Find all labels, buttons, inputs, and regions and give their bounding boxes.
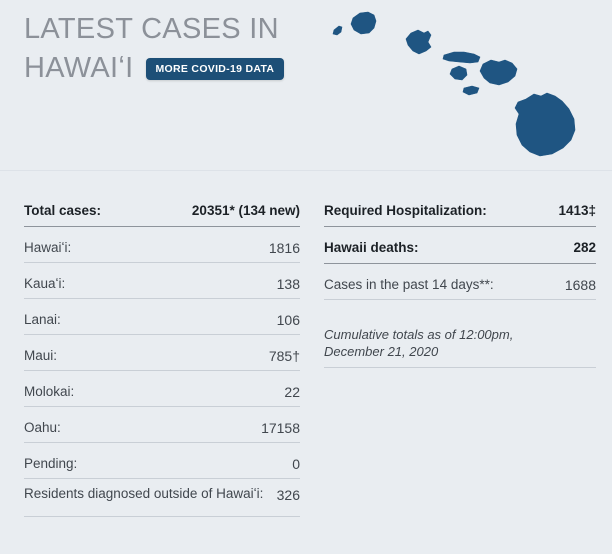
- summary-stats-table: Required Hospitalization: 1413‡ Hawaii d…: [306, 190, 612, 517]
- row-value: 0: [292, 455, 300, 473]
- cases-by-island-table: Total cases: 20351* (134 new) Hawaiʻi: 1…: [0, 190, 306, 517]
- page-header: LATEST CASES IN HAWAIʻI MORE COVID-19 DA…: [0, 0, 612, 170]
- cumulative-totals-note: Cumulative totals as of 12:00pm, Decembe…: [324, 300, 596, 368]
- row-value: 326: [277, 485, 300, 504]
- table-row: Kauaʻi: 138: [24, 263, 300, 299]
- row-value: 785†: [269, 347, 300, 365]
- row-label: Hawaii deaths:: [324, 239, 419, 257]
- header-divider: [0, 170, 612, 171]
- statistics-tables: Total cases: 20351* (134 new) Hawaiʻi: 1…: [0, 190, 612, 517]
- page-title-second-line: HAWAIʻI: [24, 49, 134, 88]
- table-row: Molokai: 22: [24, 371, 300, 407]
- row-label: Pending:: [24, 455, 77, 473]
- island-lanai: [450, 66, 467, 80]
- row-value: 106: [277, 311, 300, 329]
- row-label: Kauaʻi:: [24, 275, 65, 293]
- row-value: 22: [284, 383, 300, 401]
- island-hawaii: [515, 93, 575, 156]
- row-label: Hawaiʻi:: [24, 239, 71, 257]
- island-kauai: [351, 12, 376, 34]
- hawaii-islands-map: [328, 2, 596, 168]
- page-title: LATEST CASES IN: [24, 10, 324, 49]
- row-label: Maui:: [24, 347, 57, 365]
- row-value: 1816: [269, 239, 300, 257]
- table-row: Pending: 0: [24, 443, 300, 479]
- row-label: Lanai:: [24, 311, 61, 329]
- row-label: Residents diagnosed outside of Hawaiʻi:: [24, 485, 263, 502]
- note-line-2: December 21, 2020: [324, 343, 596, 360]
- island-maui: [480, 60, 517, 85]
- title-line-2: HAWAIʻI MORE COVID-19 DATA: [24, 49, 324, 88]
- row-label: Oahu:: [24, 419, 61, 437]
- row-value: 1688: [565, 276, 596, 294]
- table-row: Hawaiʻi: 1816: [24, 227, 300, 263]
- row-label: Molokai:: [24, 383, 74, 401]
- table-row-required-hospitalization: Required Hospitalization: 1413‡: [324, 190, 596, 227]
- row-label: Required Hospitalization:: [324, 202, 487, 220]
- row-label: Cases in the past 14 days**:: [324, 276, 494, 294]
- table-row: Oahu: 17158: [24, 407, 300, 443]
- island-niihau: [333, 26, 342, 35]
- table-row-cases-past-14-days: Cases in the past 14 days**: 1688: [324, 264, 596, 300]
- table-row-hawaii-deaths: Hawaii deaths: 282: [324, 227, 596, 264]
- row-label: Total cases:: [24, 202, 101, 220]
- row-value: 20351* (134 new): [192, 202, 300, 220]
- more-covid-data-button[interactable]: MORE COVID-19 DATA: [146, 58, 285, 80]
- table-row: Residents diagnosed outside of Hawaiʻi: …: [24, 479, 300, 517]
- island-oahu: [406, 30, 431, 54]
- island-molokai: [443, 52, 480, 63]
- row-value: 282: [573, 239, 596, 257]
- table-row-total-cases: Total cases: 20351* (134 new): [24, 190, 300, 227]
- island-kahoolawe: [463, 86, 479, 95]
- row-value: 138: [277, 275, 300, 293]
- note-line-1: Cumulative totals as of 12:00pm,: [324, 326, 596, 343]
- row-value: 17158: [261, 419, 300, 437]
- table-row: Maui: 785†: [24, 335, 300, 371]
- title-block: LATEST CASES IN HAWAIʻI MORE COVID-19 DA…: [24, 10, 324, 88]
- row-value: 1413‡: [558, 202, 596, 220]
- table-row: Lanai: 106: [24, 299, 300, 335]
